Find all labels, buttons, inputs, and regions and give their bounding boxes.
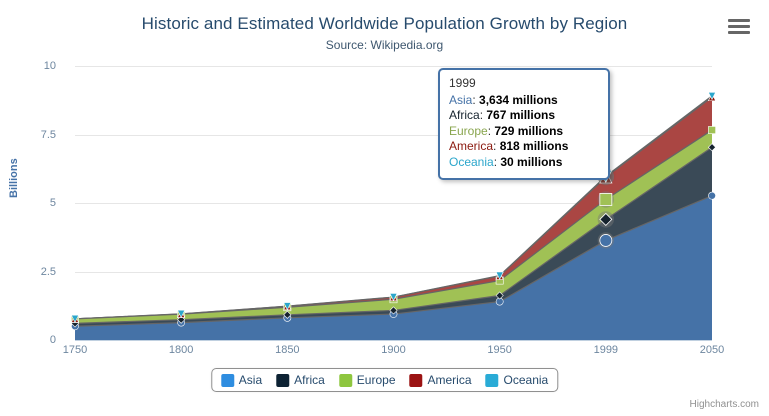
tooltip-row: Africa: 767 millions — [449, 108, 599, 124]
y-axis-tick-label: 5 — [16, 197, 56, 209]
legend-swatch-icon — [410, 374, 423, 387]
x-axis-tick-label: 2050 — [682, 344, 742, 356]
y-axis-tick-label: 2.5 — [16, 266, 56, 278]
tooltip-series-name: Oceania — [449, 155, 494, 169]
legend-label: Oceania — [504, 373, 549, 387]
tooltip: 1999 Asia: 3,634 millionsAfrica: 767 mil… — [438, 68, 610, 180]
legend-item-africa[interactable]: Africa — [276, 373, 325, 387]
tooltip-series-name: Europe — [449, 124, 488, 138]
x-axis-tick-label: 1950 — [470, 344, 530, 356]
tooltip-series-value: 30 millions — [500, 155, 562, 169]
legend-swatch-icon — [221, 374, 234, 387]
tooltip-header: 1999 — [449, 76, 599, 93]
y-axis-title: Billions — [8, 158, 20, 198]
menu-bar-3 — [728, 31, 750, 34]
x-axis-tick-label: 1750 — [45, 344, 105, 356]
tooltip-row: America: 818 millions — [449, 139, 599, 155]
marker-asia[interactable] — [708, 192, 715, 199]
tooltip-separator: : — [493, 139, 500, 153]
tooltip-row: Oceania: 30 millions — [449, 155, 599, 171]
tooltip-series-value: 729 millions — [494, 124, 563, 138]
menu-bar-1 — [728, 19, 750, 22]
legend-label: America — [428, 373, 472, 387]
x-axis-tick-label: 1900 — [364, 344, 424, 356]
gridline — [75, 340, 712, 341]
x-axis-tick-label: 1999 — [576, 344, 636, 356]
legend-label: Europe — [357, 373, 396, 387]
legend-item-asia[interactable]: Asia — [221, 373, 262, 387]
tooltip-series-name: Asia — [449, 93, 472, 107]
tooltip-separator: : — [472, 93, 479, 107]
x-axis-tick-label: 1800 — [151, 344, 211, 356]
tooltip-row: Asia: 3,634 millions — [449, 93, 599, 109]
x-axis-tick-label: 1850 — [257, 344, 317, 356]
legend-label: Africa — [294, 373, 325, 387]
tooltip-series-name: America — [449, 139, 493, 153]
marker-africa[interactable] — [598, 211, 614, 227]
chart-subtitle: Source: Wikipedia.org — [0, 38, 769, 52]
tooltip-series-name: Africa — [449, 108, 480, 122]
legend-swatch-icon — [339, 374, 352, 387]
series-layer — [75, 66, 712, 340]
legend-swatch-icon — [276, 374, 289, 387]
highcharts-container: Historic and Estimated Worldwide Populat… — [0, 0, 769, 416]
hamburger-menu-icon[interactable] — [728, 17, 750, 36]
legend[interactable]: AsiaAfricaEuropeAmericaOceania — [211, 368, 558, 392]
legend-item-europe[interactable]: Europe — [339, 373, 396, 387]
legend-label: Asia — [239, 373, 262, 387]
plot-area — [75, 66, 712, 340]
legend-item-oceania[interactable]: Oceania — [486, 373, 549, 387]
tooltip-series-value: 818 millions — [500, 139, 569, 153]
marker-europe[interactable] — [708, 126, 715, 133]
tooltip-rows: Asia: 3,634 millionsAfrica: 767 millions… — [449, 93, 599, 171]
tooltip-row: Europe: 729 millions — [449, 124, 599, 140]
marker-europe[interactable] — [598, 191, 614, 207]
legend-item-america[interactable]: America — [410, 373, 472, 387]
marker-asia[interactable] — [598, 232, 614, 248]
page-title: Historic and Estimated Worldwide Populat… — [0, 14, 769, 34]
y-axis-tick-label: 10 — [16, 60, 56, 72]
credits-link[interactable]: Highcharts.com — [690, 399, 759, 410]
legend-swatch-icon — [486, 374, 499, 387]
tooltip-series-value: 3,634 millions — [479, 93, 558, 107]
y-axis-tick-label: 7.5 — [16, 129, 56, 141]
menu-bar-2 — [728, 25, 750, 28]
tooltip-series-value: 767 millions — [486, 108, 555, 122]
